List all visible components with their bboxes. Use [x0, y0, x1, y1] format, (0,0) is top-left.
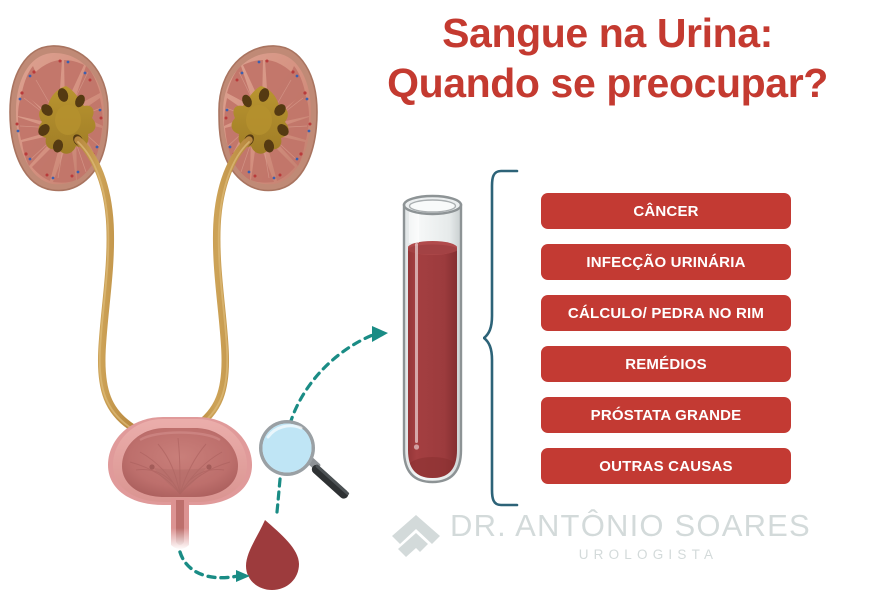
- arrow-to-blood-drop: [180, 552, 250, 582]
- watermark-name: DR. ANTÔNIO SOARES: [450, 510, 811, 541]
- blood-test-tube: [385, 185, 495, 495]
- infographic-canvas: Sangue na Urina: Quando se preocupar?: [0, 0, 875, 602]
- grouping-brace: [483, 168, 523, 508]
- cause-item-remedios[interactable]: REMÉDIOS: [541, 346, 791, 382]
- causes-list: CÂNCER INFECÇÃO URINÁRIA CÁLCULO/ PEDRA …: [541, 193, 791, 484]
- cause-label: INFECÇÃO URINÁRIA: [586, 254, 745, 271]
- cause-label: CÁLCULO/ PEDRA NO RIM: [568, 305, 764, 322]
- cause-item-prostata-grande[interactable]: PRÓSTATA GRANDE: [541, 397, 791, 433]
- arrow-to-test-tube: [290, 326, 388, 424]
- cause-label: OUTRAS CAUSAS: [599, 458, 732, 475]
- watermark-text: DR. ANTÔNIO SOARES UROLOGISTA: [450, 510, 811, 562]
- watermark-subtitle: UROLOGISTA: [450, 548, 811, 562]
- watermark-logo: DR. ANTÔNIO SOARES UROLOGISTA: [392, 510, 811, 562]
- cause-label: CÂNCER: [633, 203, 698, 220]
- cause-label: REMÉDIOS: [625, 356, 707, 373]
- magnifying-glass: [255, 415, 365, 505]
- cause-item-cancer[interactable]: CÂNCER: [541, 193, 791, 229]
- cause-item-infeccao-urinaria[interactable]: INFECÇÃO URINÁRIA: [541, 244, 791, 280]
- cause-item-outras-causas[interactable]: OUTRAS CAUSAS: [541, 448, 791, 484]
- cause-label: PRÓSTATA GRANDE: [591, 407, 742, 424]
- magnifier-handle: [307, 457, 350, 500]
- cause-item-calculo-pedra-no-rim[interactable]: CÁLCULO/ PEDRA NO RIM: [541, 295, 791, 331]
- chevron-logo-mark: [392, 513, 444, 559]
